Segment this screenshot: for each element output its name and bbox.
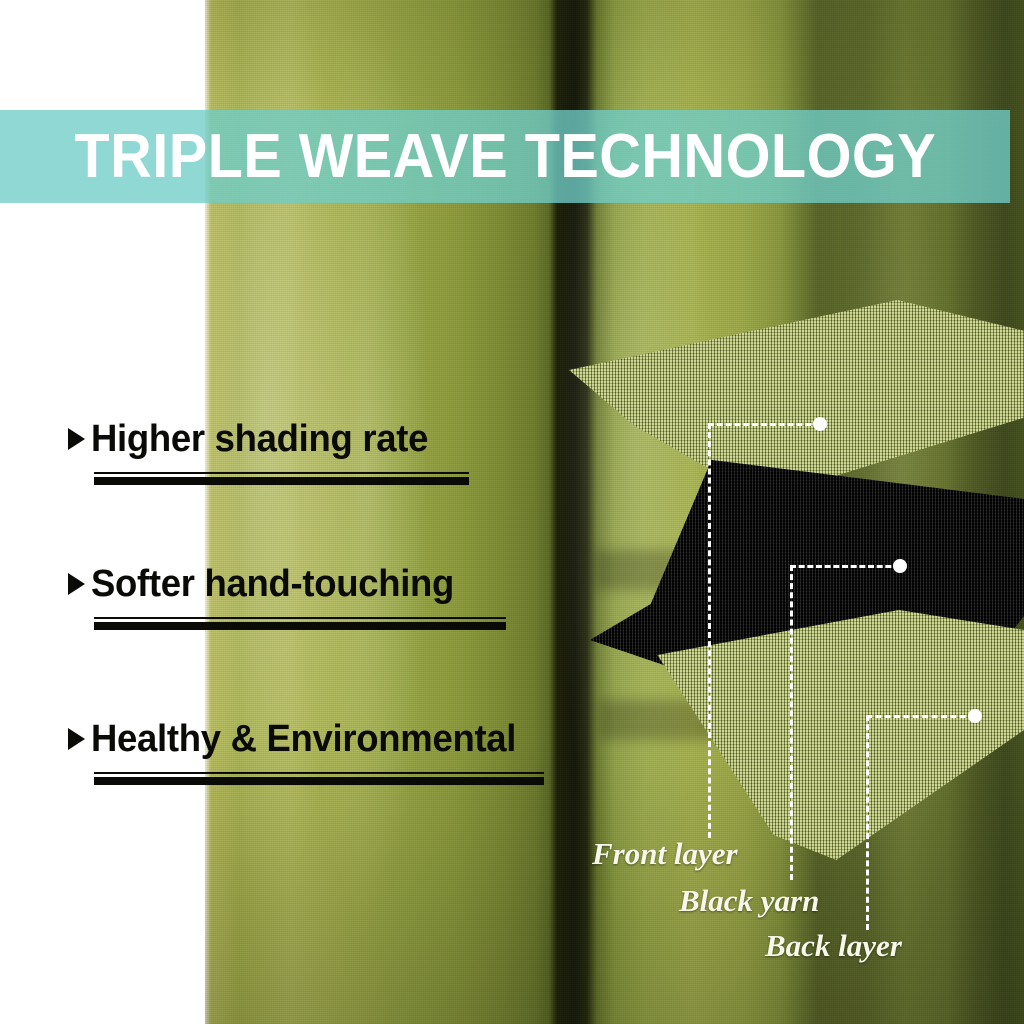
- product-feature-image: TRIPLE WEAVE TECHNOLOGY Higher shading r…: [0, 0, 1024, 1024]
- triangle-right-icon: [68, 728, 85, 750]
- fabric-layers-diagram: [555, 300, 1024, 860]
- feature-label: Healthy & Environmental: [91, 720, 516, 758]
- diagram-label-back-layer: Back layer: [765, 930, 902, 961]
- diagram-label-black-yarn: Black yarn: [679, 885, 819, 916]
- underline-thick-rule: [94, 622, 506, 630]
- feature-label: Higher shading rate: [91, 420, 428, 458]
- triangle-right-icon: [68, 573, 85, 595]
- triangle-right-icon: [68, 428, 85, 450]
- feature-label: Softer hand-touching: [91, 565, 454, 603]
- feature-item-softer-hand-touching: Softer hand-touching: [68, 565, 506, 630]
- banner-title: TRIPLE WEAVE TECHNOLOGY: [74, 126, 936, 188]
- diagram-label-front-layer: Front layer: [592, 838, 738, 869]
- feature-item-healthy-environmental: Healthy & Environmental: [68, 720, 544, 785]
- underline-thick-rule: [94, 477, 469, 485]
- feature-underline: [94, 472, 469, 485]
- headline-banner: TRIPLE WEAVE TECHNOLOGY: [0, 110, 1010, 203]
- feature-underline: [94, 772, 544, 785]
- underline-thick-rule: [94, 777, 544, 785]
- feature-item-higher-shading-rate: Higher shading rate: [68, 420, 469, 485]
- feature-underline: [94, 617, 506, 630]
